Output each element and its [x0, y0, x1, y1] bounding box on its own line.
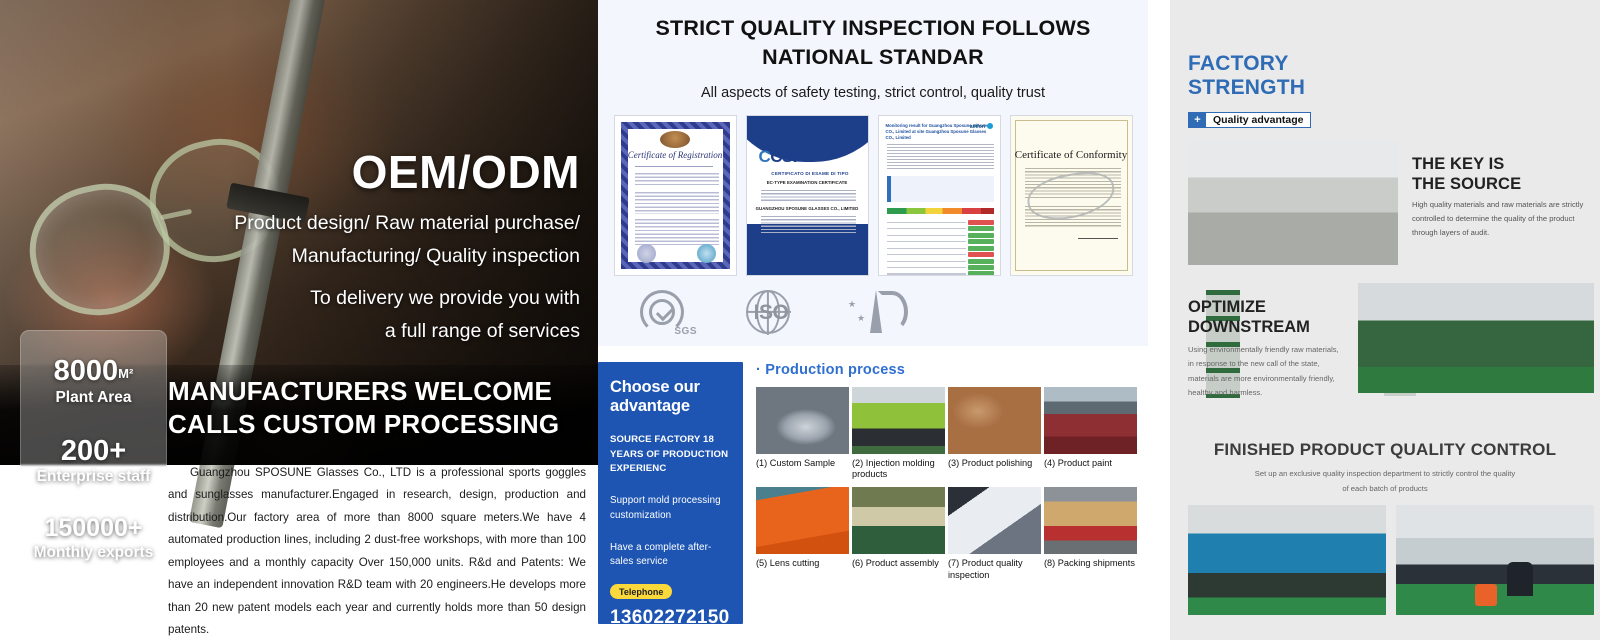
factory-strength-section: FACTORY STRENGTH + Quality advantage THE…: [1170, 0, 1600, 640]
stamp-left-icon: [637, 244, 656, 263]
process-step-1[interactable]: (1) Custom Sample: [756, 387, 849, 480]
key-source-heading-line1: THE KEY IS: [1412, 155, 1521, 175]
key-source-heading: THE KEY IS THE SOURCE: [1412, 155, 1521, 195]
manufacturers-headline: MANUFACTURERS WELCOME CALLS CUSTOM PROCE…: [168, 375, 586, 442]
telephone-number[interactable]: 13602272150: [610, 607, 731, 629]
certificate-of-registration-title: Certificate of Registration: [628, 150, 723, 160]
right-factory-panel: FACTORY STRENGTH + Quality advantage THE…: [1148, 0, 1600, 640]
quality-subtitle: All aspects of safety testing, strict co…: [598, 85, 1148, 101]
process-step-2-caption: (2) Injection molding products: [852, 458, 945, 480]
inspection-workstation-photo: [1396, 505, 1594, 615]
process-step-2-photo: [852, 387, 945, 454]
certificate-of-conformity[interactable]: Certificate of Conformity: [1010, 115, 1133, 276]
csi-certificate-company: GUANGZHOU SPOSUNE GLASSES CO., LIMITED: [747, 206, 868, 211]
advantage-point-2: Support mold processing customization: [610, 494, 731, 524]
conformity-header-text: [1021, 124, 1122, 130]
left-hero-panel: OEM/ODM Product design/ Raw material pur…: [0, 0, 598, 640]
process-step-7-caption: (7) Product quality inspection: [948, 558, 1041, 580]
ce-spire-logo-icon: ★★: [846, 289, 910, 335]
process-step-8-caption: (8) Packing shipments: [1044, 558, 1137, 569]
process-step-5-caption: (5) Lens cutting: [756, 558, 849, 569]
optimize-downstream-heading: OPTIMIZE DOWNSTREAM: [1188, 298, 1310, 338]
process-step-1-photo: [756, 387, 849, 454]
stat-staff-number: 200+: [37, 436, 151, 466]
csi-certificate-title: CERTIFICATO DI ESAME DI TIPO: [763, 171, 858, 176]
process-step-6[interactable]: (6) Product assembly: [852, 487, 945, 580]
factory-strength-line2: STRENGTH: [1188, 76, 1305, 100]
stat-plant-area: 8000M² Plant Area: [54, 356, 134, 406]
process-step-4-photo: [1044, 387, 1137, 454]
company-description-text: Guangzhou SPOSUNE Glasses Co., LTD is a …: [168, 466, 586, 636]
process-step-1-caption: (1) Custom Sample: [756, 458, 849, 469]
process-step-6-photo: [852, 487, 945, 554]
process-step-8[interactable]: (8) Packing shipments: [1044, 487, 1137, 580]
production-process-row-1: (1) Custom Sample (2) Injection molding …: [756, 387, 1140, 480]
production-process-block: · Production process (1) Custom Sample (…: [751, 362, 1140, 640]
blue-machine-photo: [1188, 505, 1386, 615]
process-step-8-photo: [1044, 487, 1137, 554]
middle-quality-panel: STRICT QUALITY INSPECTION FOLLOWS NATION…: [598, 0, 1148, 640]
manufacturers-headline-line2: CALLS CUSTOM PROCESSING: [168, 408, 586, 441]
manufacturers-headline-line1: MANUFACTURERS WELCOME: [168, 375, 586, 408]
advantage-point-1: SOURCE FACTORY 18 YEARS OF PRODUCTION EX…: [610, 433, 731, 477]
certificate-of-conformity-title: Certificate of Conformity: [1011, 149, 1132, 161]
oem-block: OEM/ODM Product design/ Raw material pur…: [160, 148, 580, 346]
csi-certificate[interactable]: CCSICSI CERTIFICATO DI ESAME DI TIPO EC-…: [746, 115, 869, 276]
quality-title-line1: STRICT QUALITY INSPECTION FOLLOWS: [618, 14, 1128, 43]
telephone-badge: Telephone: [610, 584, 672, 599]
quality-title-line2: NATIONAL STANDAR: [618, 43, 1128, 72]
amfori-brand-label: amfori: [970, 123, 993, 130]
warehouse-photo: [1188, 140, 1398, 265]
stamp-right-icon: [697, 244, 716, 263]
quality-advantage-label: Quality advantage: [1206, 113, 1310, 127]
stat-staff-label: Enterprise staff: [37, 468, 151, 486]
oem-title: OEM/ODM: [160, 148, 580, 196]
advantage-point-3: Have a complete after-sales service: [610, 541, 731, 571]
sgs-logo-icon: SGS: [636, 288, 696, 336]
quality-advantage-badge[interactable]: + Quality advantage: [1188, 112, 1311, 128]
promo-banner-page: OEM/ODM Product design/ Raw material pur…: [0, 0, 1600, 640]
process-step-3-photo: [948, 387, 1041, 454]
quality-inspection-section: STRICT QUALITY INSPECTION FOLLOWS NATION…: [598, 0, 1148, 346]
iso-logo-label: ISO: [742, 301, 800, 325]
finished-quality-body-line2: of each batch of products: [1210, 481, 1560, 496]
optimize-downstream-body: Using environmentally friendly raw mater…: [1188, 343, 1346, 401]
process-step-7[interactable]: (7) Product quality inspection: [948, 487, 1041, 580]
stat-exports-number: 150000+: [34, 515, 154, 541]
oem-line-1: Product design/ Raw material purchase/: [160, 209, 580, 238]
process-step-5-photo: [756, 487, 849, 554]
stat-plant-area-label: Plant Area: [54, 389, 134, 407]
process-step-4[interactable]: (4) Product paint: [1044, 387, 1137, 480]
stat-plant-area-number: 8000M²: [54, 356, 134, 386]
finished-quality-heading: FINISHED PRODUCT QUALITY CONTROL: [1170, 440, 1600, 460]
optimize-heading-line1: OPTIMIZE: [1188, 298, 1310, 318]
certificate-of-registration[interactable]: Certificate of Registration: [614, 115, 737, 276]
process-step-3-caption: (3) Product polishing: [948, 458, 1041, 469]
stats-card: 8000M² Plant Area 200+ Enterprise staff …: [20, 330, 167, 590]
key-source-body: High quality materials and raw materials…: [1412, 198, 1594, 240]
process-step-6-caption: (6) Product assembly: [852, 558, 945, 569]
process-step-3[interactable]: (3) Product polishing: [948, 387, 1041, 480]
advantage-box: Choose our advantage SOURCE FACTORY 18 Y…: [598, 362, 743, 624]
amfori-monitoring-certificate[interactable]: Monitoring result for Guangzhou Sposune …: [878, 115, 1001, 276]
production-process-heading: · Production process: [756, 362, 1140, 378]
injection-machines-photo: [1358, 283, 1594, 393]
eagle-seal-icon: [660, 131, 690, 148]
oem-line-3: To delivery we provide you with: [160, 284, 580, 313]
finished-quality-body-line1: Set up an exclusive quality inspection d…: [1210, 466, 1560, 481]
sgs-logo-label: SGS: [674, 326, 697, 337]
company-description: Guangzhou SPOSUNE Glasses Co., LTD is a …: [168, 462, 586, 640]
process-step-2[interactable]: (2) Injection molding products: [852, 387, 945, 480]
key-source-heading-line2: THE SOURCE: [1412, 175, 1521, 195]
oem-line-4: a full range of services: [160, 317, 580, 346]
signature-icon: [1078, 219, 1118, 239]
factory-strength-line1: FACTORY: [1188, 52, 1305, 76]
stat-staff: 200+ Enterprise staff: [37, 436, 151, 486]
advantage-and-process-section: Choose our advantage SOURCE FACTORY 18 Y…: [598, 346, 1148, 640]
process-step-5[interactable]: (5) Lens cutting: [756, 487, 849, 580]
certification-logos: SGS ISO ★★: [598, 288, 1148, 336]
stat-exports-label: Monthly exports: [34, 544, 154, 562]
plus-icon: +: [1189, 113, 1206, 127]
optimize-heading-line2: DOWNSTREAM: [1188, 318, 1310, 338]
csi-brand-label: CCSICSI: [759, 147, 797, 167]
stat-plant-area-unit: M²: [118, 366, 133, 381]
advantage-heading: Choose our advantage: [610, 378, 731, 416]
production-process-row-2: (5) Lens cutting (6) Product assembly (7…: [756, 487, 1140, 580]
process-step-4-caption: (4) Product paint: [1044, 458, 1137, 469]
finished-quality-body: Set up an exclusive quality inspection d…: [1210, 466, 1560, 496]
process-step-7-photo: [948, 487, 1041, 554]
quality-title: STRICT QUALITY INSPECTION FOLLOWS NATION…: [598, 14, 1148, 72]
iso-logo-icon: ISO: [740, 289, 802, 335]
csi-certificate-subtitle: EC-TYPE EXAMINATION CERTIFICATE: [747, 180, 868, 185]
stat-exports: 150000+ Monthly exports: [34, 515, 154, 561]
oem-line-2: Manufacturing/ Quality inspection: [160, 242, 580, 271]
factory-strength-title: FACTORY STRENGTH: [1188, 52, 1305, 100]
certificates-row: Certificate of Registration CCSICSI CERT…: [598, 115, 1148, 276]
